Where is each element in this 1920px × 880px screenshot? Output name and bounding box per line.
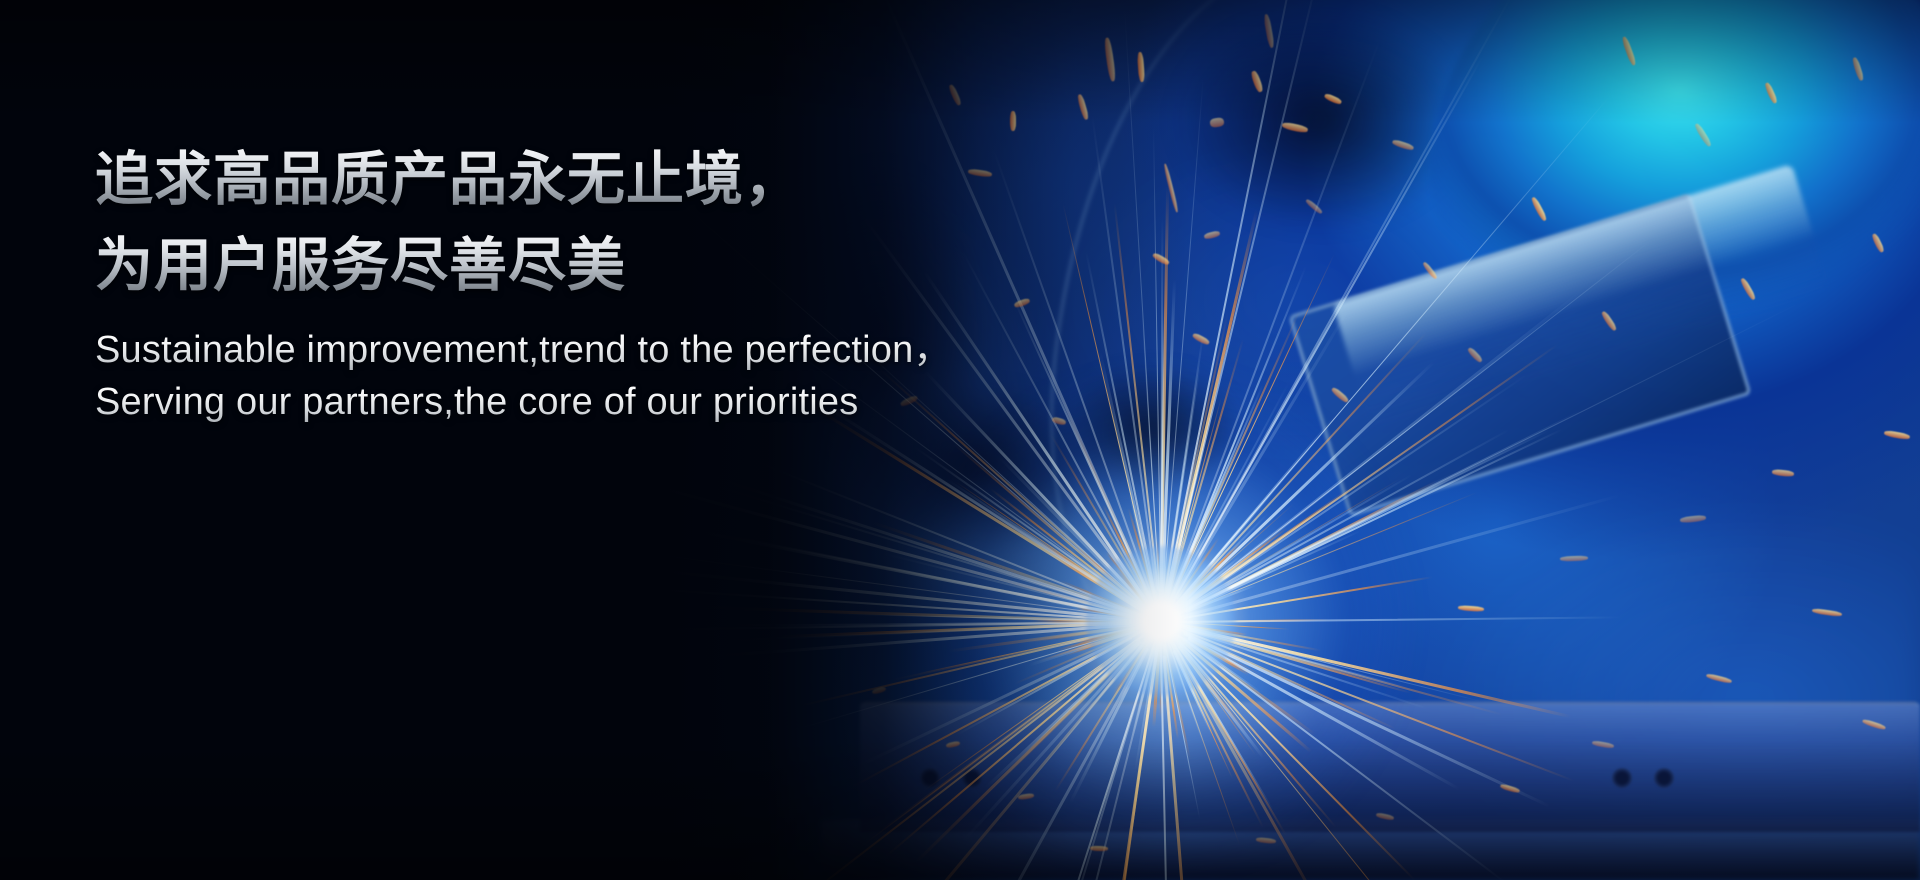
subheadline-english-line-2: Serving our partners,the core of our pri… — [95, 376, 1095, 428]
headline-chinese-line-2: 为用户服务尽善尽美 — [95, 224, 1095, 308]
welding-background-photo — [0, 0, 1920, 880]
vignette-overlay — [0, 0, 1920, 880]
hero-banner: 追求高品质产品永无止境， 为用户服务尽善尽美 Sustainable impro… — [0, 0, 1920, 880]
subheadline-english-line-1: Sustainable improvement,trend to the per… — [95, 324, 1095, 376]
banner-copy: 追求高品质产品永无止境， 为用户服务尽善尽美 Sustainable impro… — [95, 138, 1095, 428]
headline-chinese-line-1: 追求高品质产品永无止境， — [95, 138, 1095, 222]
